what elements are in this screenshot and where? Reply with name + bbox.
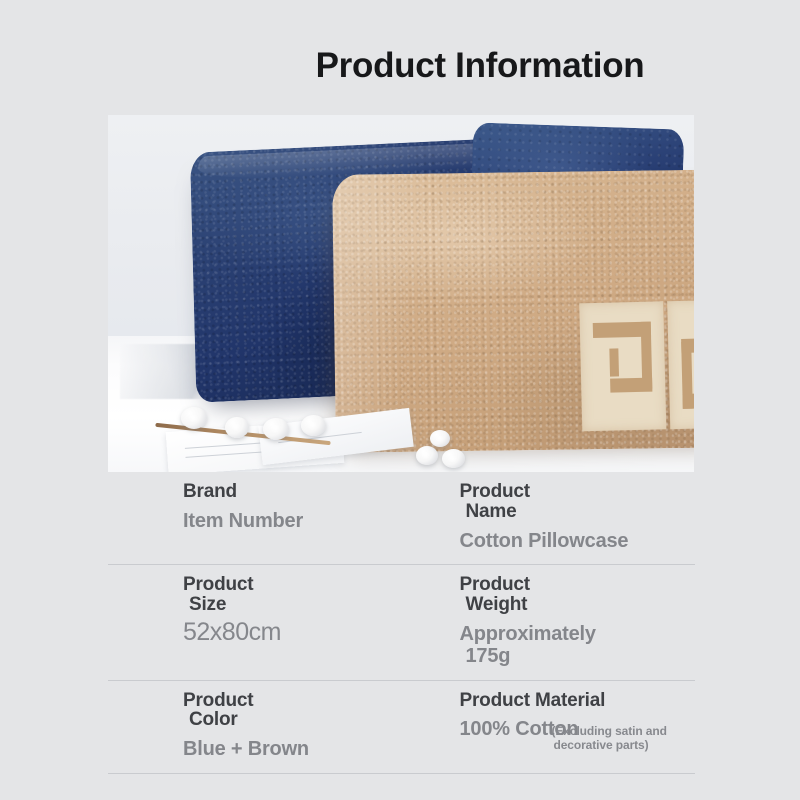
spec-cell-product-name: Product Name Cotton Pillowcase [402, 472, 696, 564]
spec-label: Product Color [183, 691, 402, 731]
spec-value: Approximately 175g [460, 624, 696, 667]
greek-key-tile [667, 299, 694, 429]
spec-label-line2: Size [183, 595, 402, 615]
spec-cell-product-weight: Product Weight Approximately 175g [402, 565, 696, 679]
spec-value: Cotton Pillowcase [460, 531, 696, 553]
spec-value: Item Number [183, 511, 402, 533]
spec-label: Product Weight [460, 575, 696, 615]
spec-value: Blue + Brown [183, 739, 402, 761]
spec-label-line2: Name [460, 502, 696, 522]
spec-cell-product-material: Product Material 100% Cotton (Excluding … [402, 681, 696, 773]
greek-key-pattern [579, 299, 694, 431]
spec-label-line1: Product [183, 574, 253, 595]
spec-label: Brand [183, 482, 402, 502]
spec-label-line1: Product Material [460, 690, 606, 711]
spec-cell-product-color: Product Color Blue + Brown [108, 681, 402, 773]
spec-label: Product Size [183, 575, 402, 615]
spec-row: Product Size 52x80cm Product Weight Appr… [108, 565, 695, 680]
spec-label: Product Name [460, 482, 696, 522]
spec-label-line1: Brand [183, 481, 237, 502]
spec-label-line2: Color [183, 710, 402, 730]
spec-value-line1: Approximately [460, 623, 596, 645]
spec-label-line1: Product [460, 574, 530, 595]
spec-label: Product Material [460, 691, 696, 711]
spec-row: Product Color Blue + Brown Product Mater… [108, 681, 695, 774]
spec-label-line1: Product [460, 481, 530, 502]
fine-print-line2: decorative parts) [552, 738, 692, 752]
spec-value-line1: 52x80cm [183, 618, 281, 646]
spec-value-line1: Blue + Brown [183, 738, 309, 760]
greek-key-tile [579, 301, 666, 431]
product-spec-table: Brand Item Number Product Name Cotton Pi… [108, 472, 695, 774]
cotton-boll [263, 418, 289, 440]
product-photo [108, 115, 694, 472]
spec-cell-product-size: Product Size 52x80cm [108, 565, 402, 679]
spec-label-line2: Weight [460, 595, 696, 615]
spec-value-line1: Cotton Pillowcase [460, 530, 629, 552]
spec-row: Brand Item Number Product Name Cotton Pi… [108, 472, 695, 565]
spec-value: 52x80cm [183, 619, 402, 646]
cotton-boll [416, 446, 438, 465]
spec-value-line2: 175g [460, 646, 696, 668]
fine-print-line1: (Excluding satin and [552, 724, 667, 738]
page-title: Product Information [0, 46, 800, 86]
spec-value-line1: Item Number [183, 510, 303, 532]
spec-cell-brand: Brand Item Number [108, 472, 402, 564]
material-fine-print: (Excluding satin and decorative parts) [552, 724, 692, 753]
spec-label-line1: Product [183, 690, 253, 711]
